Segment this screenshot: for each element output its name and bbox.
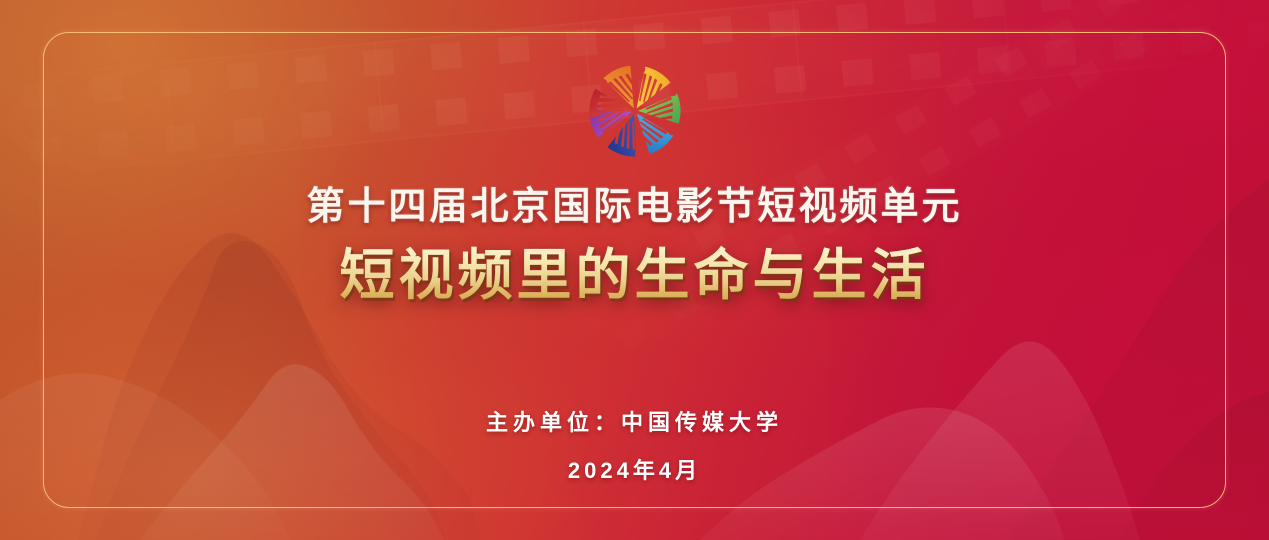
poster-subtitle: 短视频里的生命与生活 (0, 242, 1269, 308)
film-frame-divider (164, 62, 175, 158)
festival-poster: 第十四届北京国际电影节短视频单元 短视频里的生命与生活 主办单位：中国传媒大学 … (0, 0, 1269, 540)
film-frame-divider (792, 2, 803, 98)
date-text: 2024年4月 (0, 453, 1269, 485)
organizer-text: 主办单位：中国传媒大学 (0, 405, 1269, 437)
film-frame-divider (373, 42, 384, 138)
film-frame-divider (1001, 0, 1012, 77)
poster-headline: 第十四届北京国际电影节短视频单元 (0, 184, 1269, 232)
logo-petal-red (576, 77, 644, 137)
title-block: 第十四届北京国际电影节短视频单元 短视频里的生命与生活 (0, 184, 1269, 308)
footer-block: 主办单位：中国传媒大学 2024年4月 (0, 405, 1269, 485)
festival-pinwheel-logo-icon (560, 55, 710, 170)
